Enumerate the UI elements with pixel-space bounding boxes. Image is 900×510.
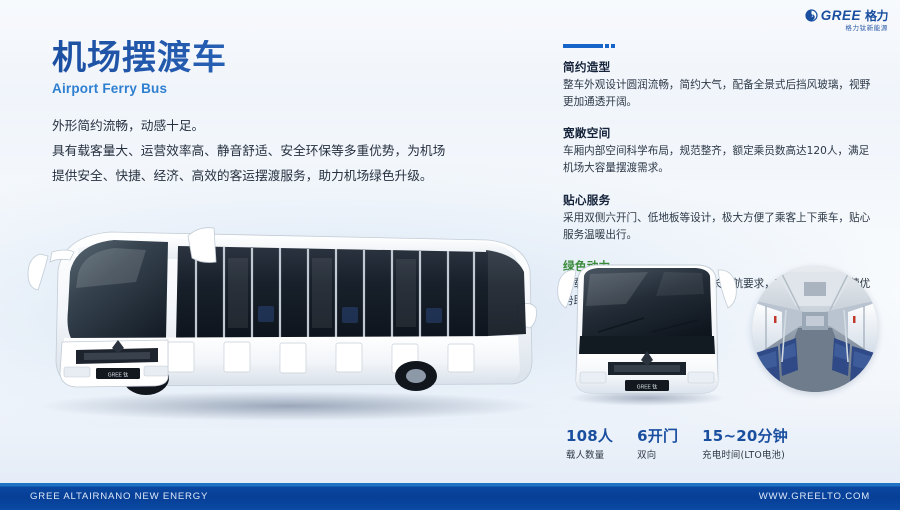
logo-subtitle: 格力钛新能源	[845, 25, 888, 32]
feature-title-3: 贴心服务	[563, 192, 875, 208]
gree-swirl-icon	[805, 9, 818, 22]
svg-text:GREE 钛: GREE 钛	[108, 372, 129, 379]
intro-line-2: 具有载客量大、运营效率高、静音舒适、安全环保等多重优势，为机场	[52, 139, 522, 164]
feature-title-2: 宽敞空间	[563, 125, 875, 141]
stat-charging-value: 15~20分钟	[702, 428, 788, 445]
stat-charging-label: 充电时间(LTO电池)	[702, 447, 788, 461]
stat-doors-label: 双向	[637, 447, 678, 461]
feature-body-3: 采用双侧六开门、低地板等设计，极大方便了乘客上下乘车，贴心服务温暖出行。	[563, 210, 875, 244]
page-title: 机场摆渡车	[52, 40, 522, 77]
stat-doors-value: 6开门	[637, 428, 678, 445]
intro-paragraph: 外形简约流畅，动感十足。 具有载客量大、运营效率高、静音舒适、安全环保等多重优势…	[52, 114, 522, 188]
front-bus-illustration: GREE 钛	[552, 262, 742, 407]
footer-website[interactable]: WWW.GREELTO.COM	[759, 491, 870, 502]
logo-wordmark-row: GREE 格力	[805, 9, 888, 23]
page-subtitle: Airport Ferry Bus	[52, 81, 522, 96]
footer-company: GREE ALTAIRNANO NEW ENERGY	[30, 491, 208, 502]
decorative-rule	[563, 44, 875, 48]
stat-capacity-value: 108人	[566, 428, 613, 445]
stat-capacity-label: 载人数量	[566, 447, 613, 461]
brand-logo: GREE 格力 格力钛新能源	[805, 9, 888, 31]
feature-item-2: 宽敞空间 车厢内部空间科学布局，规范整齐，额定乘员数高达120人，满足机场大容量…	[563, 125, 875, 177]
headline-block: 机场摆渡车 Airport Ferry Bus 外形简约流畅，动感十足。 具有载…	[52, 40, 522, 189]
stat-doors: 6开门 双向	[637, 428, 678, 461]
rule-bar	[563, 44, 603, 48]
hero-bus-illustration: GREE 钛	[18, 210, 558, 425]
intro-line-1: 外形简约流畅，动感十足。	[52, 114, 522, 139]
brochure-page: GREE 格力 格力钛新能源 机场摆渡车 Airport Ferry Bus 外…	[0, 0, 900, 510]
feature-body-2: 车厢内部空间科学布局，规范整齐，额定乘员数高达120人，满足机场大容量摆渡需求。	[563, 143, 875, 177]
feature-title-1: 简约造型	[563, 59, 875, 75]
logo-chinese-word: 格力	[865, 10, 888, 22]
hero-bus-image: GREE 钛	[18, 210, 558, 425]
intro-line-3: 提供安全、快捷、经济、高效的客运摆渡服务，助力机场绿色升级。	[52, 164, 522, 189]
stat-charging: 15~20分钟 充电时间(LTO电池)	[702, 428, 788, 461]
feature-body-1: 整车外观设计圆润流畅，简约大气，配备全景式后挡风玻璃，视野更加通透开阔。	[563, 77, 875, 111]
stat-capacity: 108人 载人数量	[566, 428, 613, 461]
rule-dot-2	[611, 44, 615, 48]
footer-bar: GREE ALTAIRNANO NEW ENERGY WWW.GREELTO.C…	[0, 483, 900, 510]
feature-item-1: 简约造型 整车外观设计圆润流畅，简约大气，配备全景式后挡风玻璃，视野更加通透开阔…	[563, 59, 875, 111]
rule-dot-1	[605, 44, 609, 48]
svg-text:GREE 钛: GREE 钛	[637, 384, 658, 391]
logo-word: GREE	[821, 9, 861, 23]
front-bus-image: GREE 钛	[552, 262, 742, 407]
feature-item-3: 贴心服务 采用双侧六开门、低地板等设计，极大方便了乘客上下乘车，贴心服务温暖出行…	[563, 192, 875, 244]
interior-photo	[752, 266, 878, 392]
interior-cabin-illustration	[752, 266, 878, 392]
spec-stats: 108人 载人数量 6开门 双向 15~20分钟 充电时间(LTO电池)	[566, 428, 788, 461]
